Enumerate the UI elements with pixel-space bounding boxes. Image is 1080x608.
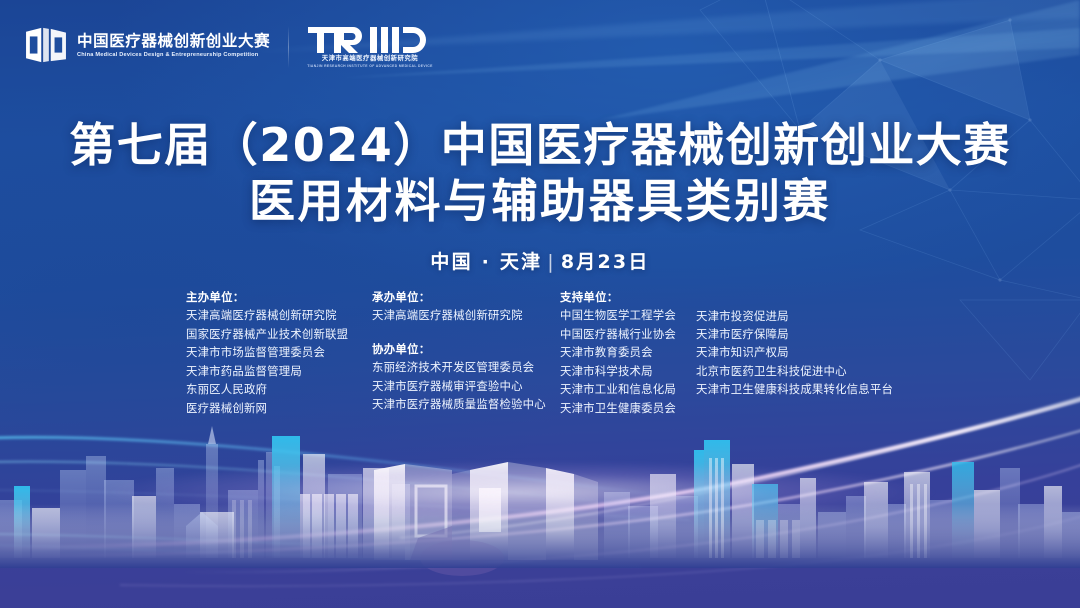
list-item: 天津市卫生健康科技成果转化信息平台 bbox=[696, 380, 906, 398]
list-item: 天津市药品监督管理局 bbox=[186, 362, 372, 380]
main-title-line1: 第七届（2024）中国医疗器械创新创业大赛 bbox=[0, 118, 1080, 172]
organizers-heading: 主办单位： bbox=[186, 288, 372, 306]
list-item: 天津市医疗保障局 bbox=[696, 325, 906, 343]
list-item: 天津市知识产权局 bbox=[696, 343, 906, 361]
undertaker-heading: 承办单位： bbox=[372, 288, 560, 306]
list-item: 天津市教育委员会 bbox=[560, 343, 696, 361]
list-item: 天津高端医疗器械创新研究院 bbox=[372, 306, 560, 324]
list-item: 天津市卫生健康委员会 bbox=[560, 399, 696, 417]
institute-logo-en: TIANJIN RESEARCH INSTITUTE OF ADVANCED M… bbox=[307, 64, 433, 68]
list-item: 天津市市场监督管理委员会 bbox=[186, 343, 372, 361]
supporters-column-continued: 天津市投资促进局 天津市医疗保障局 天津市知识产权局 北京市医药卫生科技促进中心… bbox=[696, 288, 906, 399]
tianjin-city-skyline bbox=[0, 408, 1080, 608]
hosts-column: 承办单位： 天津高端医疗器械创新研究院 协办单位： 东丽经济技术开发区管理委员会… bbox=[372, 288, 560, 414]
logo-divider bbox=[288, 26, 289, 68]
column-spacer bbox=[696, 288, 906, 307]
list-item: 北京市医药卫生科技促进中心 bbox=[696, 362, 906, 380]
organizers-column: 主办单位： 天津高端医疗器械创新研究院 国家医疗器械产业技术创新联盟 天津市市场… bbox=[186, 288, 372, 417]
supporters-column: 支持单位： 中国生物医学工程学会 中国医疗器械行业协会 天津市教育委员会 天津市… bbox=[560, 288, 696, 417]
banner-poster: 中国医疗器械创新创业大赛 China Medical Devices Desig… bbox=[0, 0, 1080, 608]
list-item: 天津高端医疗器械创新研究院 bbox=[186, 306, 372, 324]
title-block: 第七届（2024）中国医疗器械创新创业大赛 医用材料与辅助器具类别赛 中国 · … bbox=[0, 118, 1080, 274]
list-item: 中国医疗器械行业协会 bbox=[560, 325, 696, 343]
event-location: 中国 · 天津 bbox=[430, 251, 542, 273]
list-item: 医疗器械创新网 bbox=[186, 399, 372, 417]
list-item: 天津市医疗器械审评查验中心 bbox=[372, 377, 560, 395]
main-title-line2: 医用材料与辅助器具类别赛 bbox=[0, 172, 1080, 231]
competition-logo-en: China Medical Devices Design & Entrepren… bbox=[77, 52, 270, 58]
organizations-block: 主办单位： 天津高端医疗器械创新研究院 国家医疗器械产业技术创新联盟 天津市市场… bbox=[186, 288, 906, 417]
subtitle-separator: | bbox=[547, 251, 556, 273]
header-logos: 中国医疗器械创新创业大赛 China Medical Devices Desig… bbox=[24, 26, 433, 68]
list-item: 东丽经济技术开发区管理委员会 bbox=[372, 358, 560, 376]
list-item: 东丽区人民政府 bbox=[186, 380, 372, 398]
list-item: 天津市医疗器械质量监督检验中心 bbox=[372, 395, 560, 413]
list-item: 国家医疗器械产业技术创新联盟 bbox=[186, 325, 372, 343]
list-item: 天津市科学技术局 bbox=[560, 362, 696, 380]
list-item: 天津市投资促进局 bbox=[696, 307, 906, 325]
list-item: 天津市工业和信息化局 bbox=[560, 380, 696, 398]
supporters-heading: 支持单位： bbox=[560, 288, 696, 306]
event-date: 8月23日 bbox=[561, 251, 650, 273]
competition-logo: 中国医疗器械创新创业大赛 China Medical Devices Desig… bbox=[24, 26, 270, 64]
institute-logo-cn: 天津市高端医疗器械创新研究院 bbox=[322, 55, 418, 62]
open-book-door-logo-icon bbox=[24, 26, 68, 64]
column-gap bbox=[372, 325, 560, 340]
horizon-glow bbox=[0, 450, 1080, 520]
event-subtitle: 中国 · 天津|8月23日 bbox=[0, 247, 1080, 274]
list-item: 中国生物医学工程学会 bbox=[560, 306, 696, 324]
institute-logo: 天津市高端医疗器械创新研究院 TIANJIN RESEARCH INSTITUT… bbox=[307, 26, 433, 68]
trimd-wordmark-icon bbox=[308, 27, 432, 53]
competition-logo-cn: 中国医疗器械创新创业大赛 bbox=[77, 33, 270, 49]
coorganizer-heading: 协办单位： bbox=[372, 340, 560, 358]
